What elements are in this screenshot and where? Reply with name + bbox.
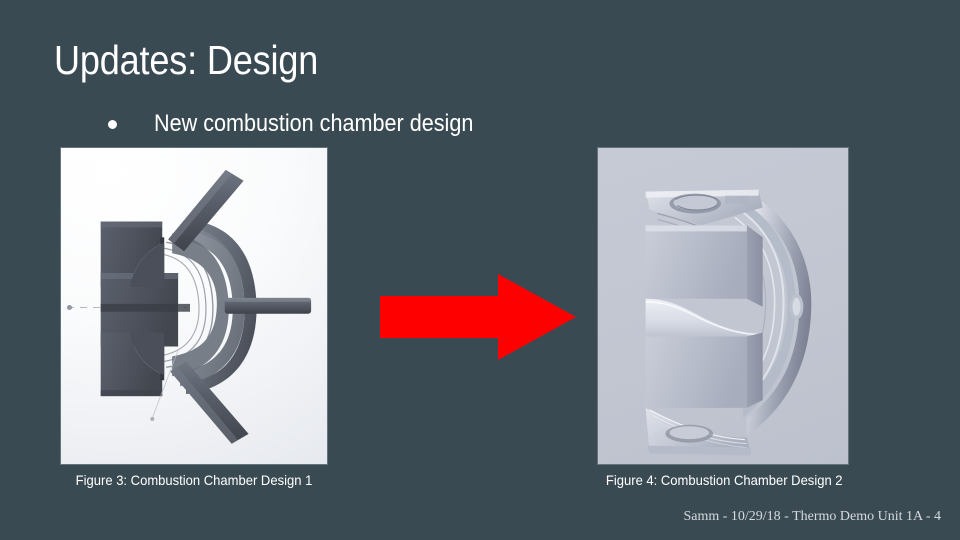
- presentation-slide: Updates: Design New combustion chamber d…: [0, 0, 960, 540]
- figure-4-image: [597, 147, 849, 465]
- figure-3-image: [60, 147, 328, 465]
- figure-4-caption: Figure 4: Combustion Chamber Design 2: [606, 471, 843, 489]
- figure-4-block: Figure 4: Combustion Chamber Design 2: [597, 147, 851, 489]
- bullet-list-item: New combustion chamber design: [108, 110, 509, 138]
- cad-model-design-1: [61, 148, 327, 464]
- figure-3-block: Figure 3: Combustion Chamber Design 1: [60, 147, 328, 489]
- cad-model-design-2: [598, 148, 848, 463]
- slide-footer: Samm - 10/29/18 - Thermo Demo Unit 1A - …: [683, 508, 941, 526]
- red-arrow-icon: [380, 272, 576, 362]
- bullet-item-label: New combustion chamber design: [154, 110, 473, 138]
- page-title: Updates: Design: [54, 36, 318, 84]
- bullet-dot-icon: [108, 120, 117, 129]
- figure-3-caption: Figure 3: Combustion Chamber Design 1: [69, 471, 318, 489]
